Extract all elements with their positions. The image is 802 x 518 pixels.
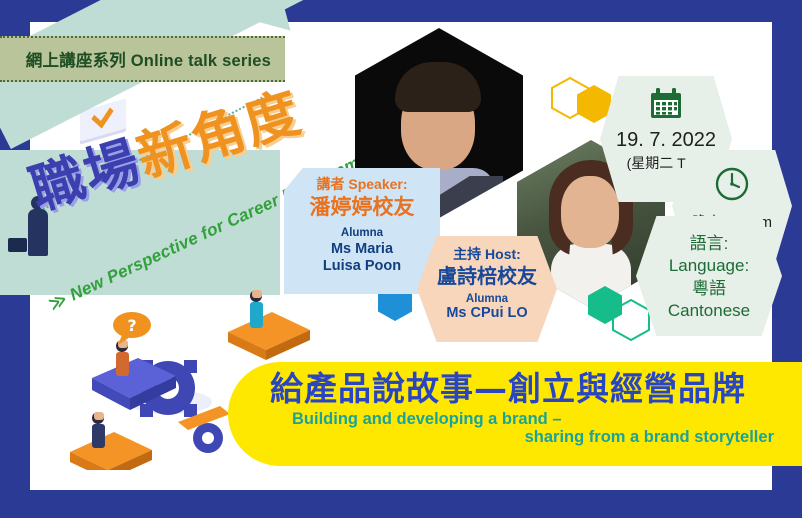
amber-hexagon-outline-icon <box>551 76 591 120</box>
svg-text:?: ? <box>127 316 136 335</box>
host-name-en: Ms CPui LO <box>417 305 557 322</box>
host-info-panel: 主持 Host: 盧詩棓校友 Alumna Ms CPui LO <box>417 236 557 342</box>
language-value-en: Cantonese <box>636 300 782 322</box>
calendar-icon <box>649 88 683 120</box>
series-banner-label: 網上講座系列 Online talk series <box>26 47 271 71</box>
host-name-cjk: 盧詩棓校友 <box>417 264 557 290</box>
topic-banner: 給產品說故事—創立與經營品牌 Building and developing a… <box>228 362 802 466</box>
speaker-info-panel: 講者 Speaker: 潘婷婷校友 Alumna Ms Maria Luisa … <box>284 168 440 294</box>
speaker-role: Alumna <box>284 226 440 241</box>
language-value-cjk: 粵語 <box>636 278 782 300</box>
topic-subtitle-line2: sharing from a brand storyteller <box>270 428 786 447</box>
speaker-name-en-line1: Ms Maria <box>284 241 440 259</box>
speaker-name-en-line2: Luisa Poon <box>284 258 440 276</box>
poster-canvas: ? 網上講座系列 Online talk series 職場新角度 ≫ New … <box>0 0 802 518</box>
topic-subtitle-line1: Building and developing a brand – <box>270 410 786 429</box>
topic-title-cjk: 給產品說故事—創立與經營品牌 <box>270 371 786 408</box>
host-role: Alumna <box>417 293 557 305</box>
speaker-name-cjk: 潘婷婷校友 <box>284 194 440 221</box>
clock-icon <box>714 166 750 202</box>
speaker-label: 講者 Speaker: <box>284 176 440 194</box>
language-label-en: Language: <box>636 255 782 277</box>
language-info-panel: 語言: Language: 粵語 Cantonese <box>636 216 782 336</box>
language-label-cjk: 語言: <box>636 233 782 255</box>
host-label: 主持 Host: <box>417 246 557 264</box>
date-value: 19. 7. 2022 <box>600 129 732 152</box>
briefcase-icon <box>8 238 27 252</box>
series-banner: 網上講座系列 Online talk series <box>0 36 285 82</box>
